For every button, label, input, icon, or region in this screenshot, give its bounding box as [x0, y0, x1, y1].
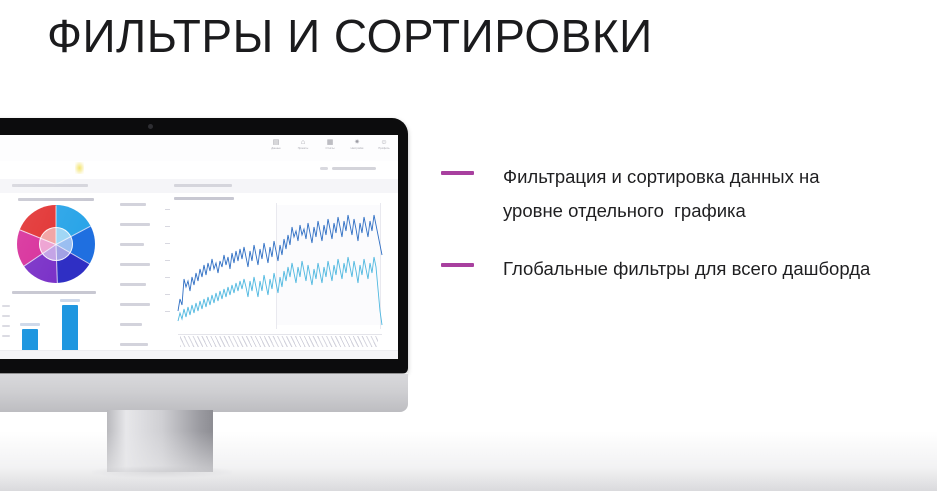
- vbar-value-2: [60, 299, 80, 302]
- metric-row-6: [120, 303, 150, 306]
- dash-marker-icon: [441, 263, 474, 267]
- monitor-bezel: ◫ ▬▬▬ ▤ Данные ⌂ Проекты ▦ Отч: [0, 118, 408, 374]
- metric-row-1: [120, 203, 146, 206]
- toolbar-item-profile[interactable]: ☺ Профиль: [376, 138, 392, 151]
- vbar-chart-title: [12, 291, 96, 294]
- vbar-2[interactable]: [62, 305, 78, 353]
- reports-icon: ▤: [268, 138, 284, 147]
- toolbar-label-home: Проекты: [295, 147, 311, 151]
- metric-row-2: [120, 223, 150, 226]
- timeseries-chart-title: [174, 197, 234, 200]
- toolbar-item-settings[interactable]: ✷ Настройки: [349, 138, 365, 151]
- global-filter-chip[interactable]: [332, 167, 376, 170]
- vbar-value-1: [20, 323, 40, 326]
- timeseries-x-axis: [178, 334, 382, 335]
- bullet-list: Фильтрация и сортировка данных на уровне…: [441, 160, 937, 286]
- filter-icon[interactable]: [320, 167, 328, 170]
- toolbar-item-reports[interactable]: ▤ Данные: [268, 138, 284, 151]
- timeseries-lines: [174, 207, 386, 333]
- metric-row-7: [120, 323, 142, 326]
- toolbar-label-grid: Отчёты: [322, 147, 338, 151]
- panel-title-right: [174, 184, 232, 187]
- slide-canvas: ФИЛЬТРЫ И СОРТИРОВКИ ◫ ▬▬▬ ▤ Данные ⌂: [0, 0, 937, 491]
- dashboard-panel-header-row: [0, 179, 398, 194]
- timeseries-series-1-path: [178, 215, 382, 311]
- toolbar-label-settings: Настройки: [349, 147, 365, 151]
- bullet-text-2: Глобальные фильтры для всего дашборда: [503, 252, 870, 286]
- toolbar-label-reports: Данные: [268, 147, 284, 151]
- monitor-screen: ◫ ▬▬▬ ▤ Данные ⌂ Проекты ▦ Отч: [0, 135, 398, 359]
- timeseries-chart[interactable]: [164, 193, 398, 359]
- metric-row-3: [120, 243, 144, 246]
- home-icon: ⌂: [295, 138, 311, 147]
- vbar-y-ticks: [2, 305, 20, 345]
- page-title: ФИЛЬТРЫ И СОРТИРОВКИ: [47, 8, 653, 64]
- bottom-surface-shadow: [0, 431, 937, 491]
- dashboard-topbar: ◫ ▬▬▬ ▤ Данные ⌂ Проекты ▦ Отч: [0, 135, 398, 162]
- metric-row-5: [120, 283, 146, 286]
- dashboard-subbar: [0, 161, 398, 180]
- dash-marker-icon: [441, 171, 474, 175]
- metric-row-8: [120, 343, 148, 346]
- donut-hole: [39, 227, 73, 261]
- webcam-icon: [148, 124, 153, 129]
- toolbar-label-profile: Профиль: [376, 147, 392, 151]
- toolbar-item-grid[interactable]: ▦ Отчёты: [322, 138, 338, 151]
- panel-title-mid: [12, 184, 88, 187]
- bullet-text-1: Фильтрация и сортировка данных на уровне…: [503, 160, 819, 228]
- metric-row-4: [120, 263, 150, 266]
- timeseries-y-ticks: [165, 209, 170, 328]
- bullet-item-1: Фильтрация и сортировка данных на уровне…: [441, 160, 937, 228]
- donut-chart-title: [18, 198, 94, 201]
- bullet-item-2: Глобальные фильтры для всего дашборда: [441, 252, 937, 286]
- timeseries-x-tick-labels: [180, 336, 378, 347]
- profile-icon: ☺: [376, 138, 392, 147]
- metrics-list-panel[interactable]: [112, 193, 165, 359]
- grid-icon: ▦: [322, 138, 338, 147]
- settings-icon: ✷: [349, 138, 365, 147]
- donut-and-bar-panel[interactable]: [0, 193, 113, 359]
- dashboard-toolbar: ▤ Данные ⌂ Проекты ▦ Отчёты ✷: [268, 138, 392, 151]
- monitor-chin: [0, 374, 408, 412]
- toolbar-item-home[interactable]: ⌂ Проекты: [295, 138, 311, 151]
- highlight-marker-icon: [75, 162, 84, 174]
- donut-chart[interactable]: [17, 205, 95, 283]
- dashboard-footer: [0, 350, 398, 359]
